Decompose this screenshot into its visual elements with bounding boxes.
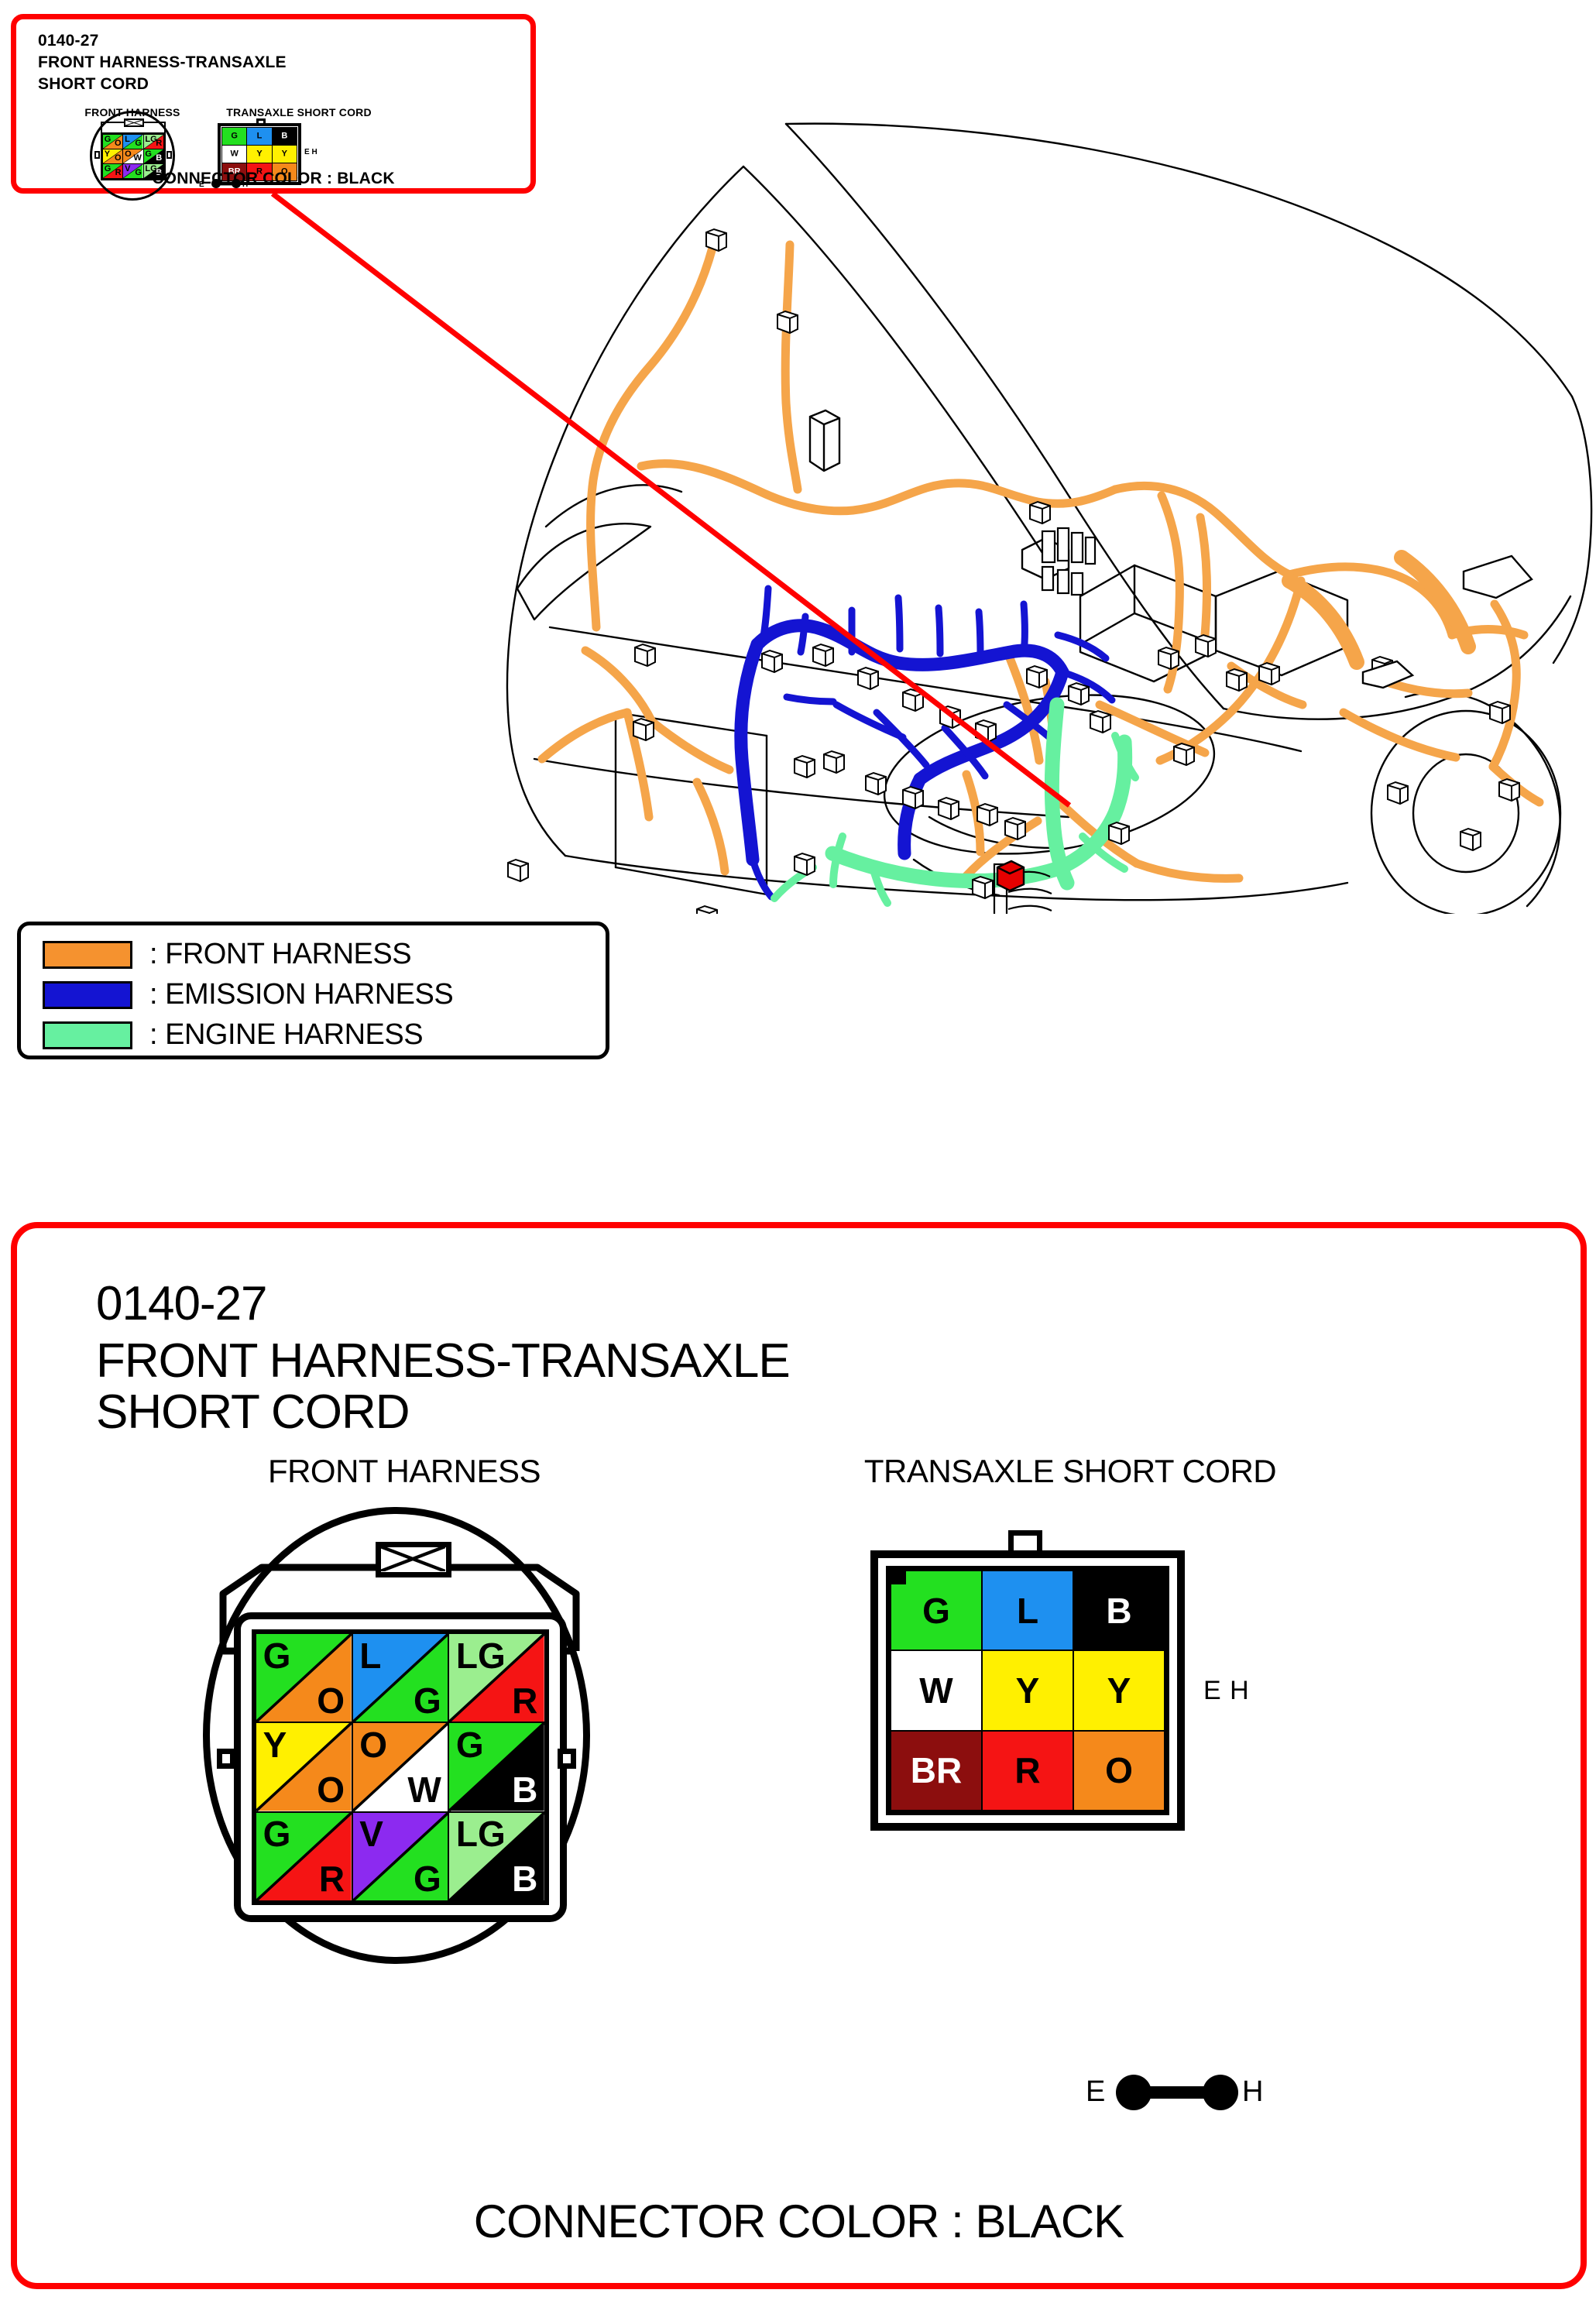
mini-eh-label: E H [304,148,317,156]
pin-cell: OW [123,149,142,163]
pin-label: Y [282,150,287,159]
pin-cell: Y [273,146,297,163]
legend-item-front-harness: : FRONT HARNESS [43,938,411,971]
legend-item-emission-harness: : EMISSION HARNESS [43,978,453,1011]
mini-front-harness-connector: GOLGLGRYOOWGBGRVGLGB [90,126,177,210]
pin-cell: LGR [144,135,163,149]
pin-label: G [231,132,238,141]
mini-connector-tab-left [94,151,100,159]
pin-cell: B [1074,1571,1164,1649]
pin-label: B [281,132,287,141]
mini-connector-tab-right [166,151,172,159]
callout-title-line-2: SHORT CORD [38,75,149,94]
legend-swatch-emission-harness [43,981,132,1009]
pin-label: O [1105,1752,1133,1788]
panel-label-front-harness: FRONT HARNESS [172,1453,637,1490]
legend-label-engine-harness: : ENGINE HARNESS [149,1018,423,1052]
transaxle-short-cord-pin-grid: GLBWYYBRRO [886,1566,1169,1815]
transaxle-short-cord-connector: GLBWYYBRRO E H [853,1530,1287,1917]
pin-cell: Y [1074,1651,1164,1729]
transaxle-eh-label: E H [1203,1676,1250,1706]
legend-label-front-harness: : FRONT HARNESS [149,938,411,971]
legend-swatch-engine-harness [43,1021,132,1049]
pin-cell: R [983,1732,1073,1810]
callout-label-transaxle-short-cord: TRANSAXLE SHORT CORD [210,106,388,118]
pin-cell: GO [256,1634,352,1722]
legend-item-engine-harness: : ENGINE HARNESS [43,1018,423,1052]
pin-cell: L [983,1571,1073,1649]
svg-text:E: E [1086,2075,1105,2108]
mini-connector-latch-icon [124,118,144,127]
pin-cell: L [247,128,271,145]
front-harness-tab-right [558,1749,576,1769]
pin-cell: GO [103,135,122,149]
pin-label: L [257,132,263,141]
pin-label: W [919,1673,952,1708]
pin-cell: YO [103,149,122,163]
callout-inset-box: 0140-27 FRONT HARNESS-TRANSAXLE SHORT CO… [11,14,536,194]
callout-part-code: 0140-27 [38,32,98,50]
pin-cell: W [891,1651,981,1729]
pin-label: B [1106,1593,1131,1629]
front-harness-latch-icon [376,1542,451,1577]
pin-cell: GB [449,1723,544,1811]
connector-detail-panel: 0140-27 FRONT HARNESS-TRANSAXLE SHORT CO… [11,1222,1587,2289]
pin-cell: LG [123,135,142,149]
pin-label: R [1014,1752,1040,1788]
pin-cell: Y [983,1651,1073,1729]
pin-cell: B [273,128,297,145]
legend-label-emission-harness: : EMISSION HARNESS [149,978,453,1011]
callout-title-line-1: FRONT HARNESS-TRANSAXLE [38,53,287,72]
pin-cell: Y [247,146,271,163]
panel-title-line-2: SHORT CORD [96,1385,410,1440]
front-harness-pin-grid: GOLGLGRYOOWGBGRVGLGB [252,1629,549,1905]
panel-part-code: 0140-27 [96,1276,267,1331]
pin-cell: GR [256,1813,352,1900]
pin-cell: LGR [449,1634,544,1722]
front-harness-tab-left [217,1749,235,1769]
transaxle-short-cord-keying-notch [889,1569,906,1584]
legend-swatch-front-harness [43,941,132,969]
pin-cell: BR [891,1732,981,1810]
pin-cell: OW [353,1723,448,1811]
pin-cell: VG [353,1813,448,1900]
pin-cell: LGB [449,1813,544,1900]
pin-cell: LG [353,1634,448,1722]
pin-cell: YO [256,1723,352,1811]
front-harness-connector: GOLGLGRYOOWGBGRVGLGB [180,1499,629,1979]
pin-label: W [230,150,238,159]
diagram-page: 0140-27 FRONT HARNESS-TRANSAXLE SHORT CO… [0,0,1596,2300]
callout-connector-color-text: CONNECTOR COLOR : BLACK [16,170,530,188]
pin-label: Y [1016,1673,1040,1708]
pin-label: L [1017,1593,1038,1629]
pin-label: G [922,1593,950,1629]
pin-cell: G [222,128,246,145]
pin-label: Y [1107,1673,1131,1708]
pin-label: Y [256,150,262,159]
harness-color-legend: : FRONT HARNESS : EMISSION HARNESS : ENG… [17,922,609,1059]
pin-cell: GB [144,149,163,163]
pin-cell: O [1074,1732,1164,1810]
vehicle-harness-illustration [434,93,1595,914]
eh-connection-symbol: E H [1086,2068,1303,2116]
svg-text:H: H [1242,2075,1263,2108]
pin-cell: W [222,146,246,163]
panel-label-transaxle-short-cord: TRANSAXLE SHORT CORD [760,1453,1380,1490]
pin-label: BR [911,1752,962,1788]
panel-connector-color-text: CONNECTOR COLOR : BLACK [17,2195,1581,2248]
panel-title-line-1: FRONT HARNESS-TRANSAXLE [96,1334,790,1389]
